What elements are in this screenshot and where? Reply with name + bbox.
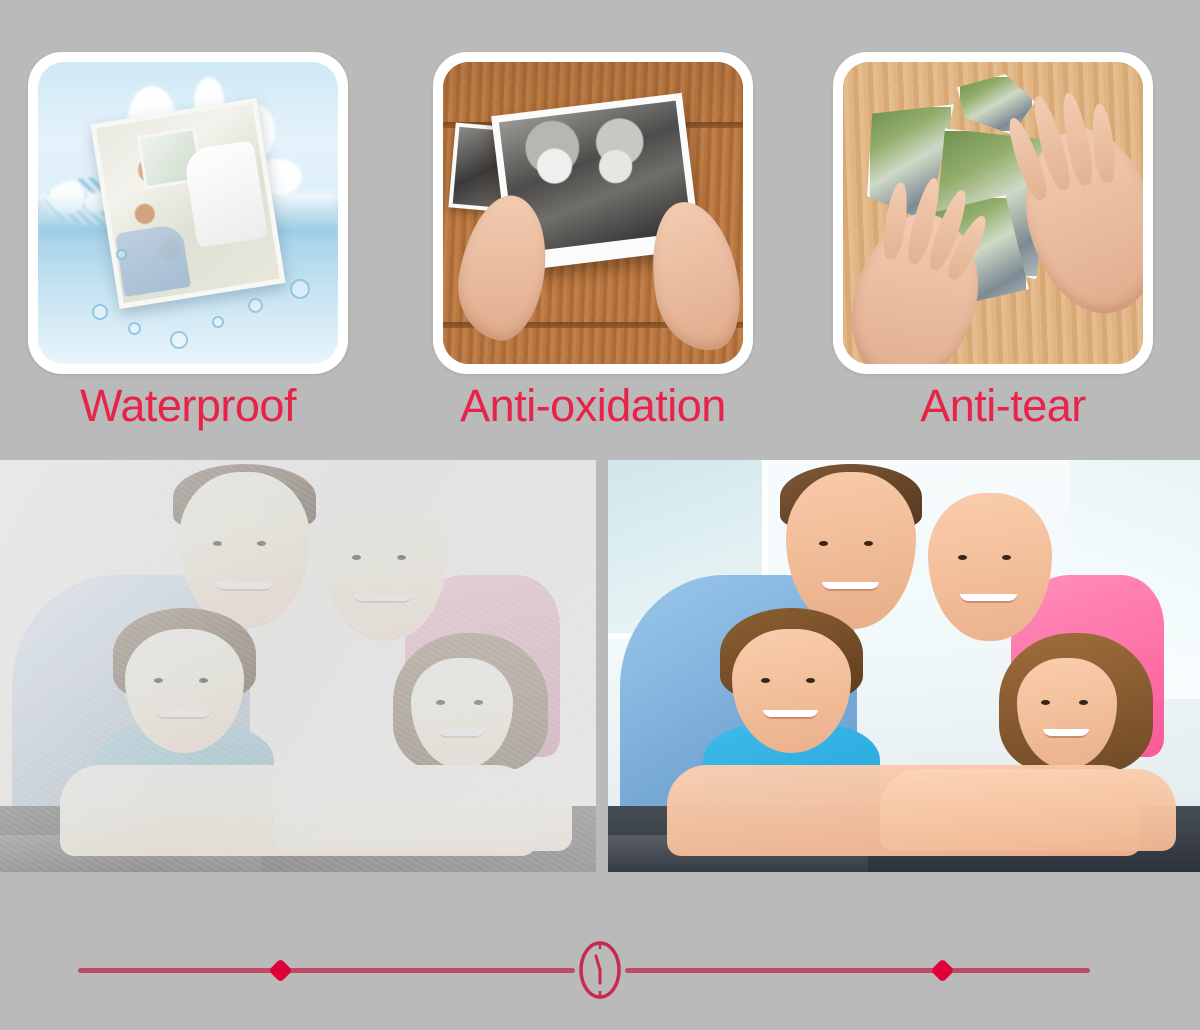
wood-table-background: [443, 62, 743, 364]
feature-row: Waterproof Anti-oxidation Anti-tear: [0, 0, 1200, 450]
comparison-row: [0, 460, 1200, 872]
water-droplet: [170, 331, 188, 349]
eye: [397, 555, 406, 560]
smile: [763, 710, 817, 719]
eye: [257, 541, 266, 546]
family-scene: [0, 460, 596, 872]
smile: [354, 594, 412, 603]
arms-front-right: [274, 769, 572, 851]
arms-front-right: [880, 769, 1176, 851]
eye: [864, 541, 873, 546]
submerged-photo: [90, 98, 285, 309]
divider-rule-left: [78, 968, 575, 973]
smile: [1043, 729, 1089, 738]
submerged-photo-figure: [183, 141, 268, 248]
water-droplet: [128, 322, 141, 335]
water-droplet: [92, 304, 108, 320]
eye: [474, 700, 483, 705]
divider-diamond-dot-right: [930, 958, 954, 982]
family-scene: [608, 460, 1200, 872]
feature-card-anti-tear[interactable]: [833, 52, 1153, 374]
feature-label-anti-oxidation: Anti-oxidation: [400, 380, 786, 432]
eye: [1002, 555, 1011, 560]
eye: [154, 678, 163, 683]
vivid-family-portrait: [608, 460, 1200, 872]
anti-tear-photo: [843, 62, 1143, 364]
feature-label-anti-tear: Anti-tear: [806, 380, 1200, 432]
comparison-image-after[interactable]: [608, 460, 1200, 872]
anti-oxidation-photo: [443, 62, 743, 364]
feature-card-anti-oxidation[interactable]: [433, 52, 753, 374]
right-hand: [1008, 116, 1143, 328]
eye: [958, 555, 967, 560]
eye: [761, 678, 770, 683]
left-hand: [843, 199, 999, 364]
faded-family-portrait: [0, 460, 596, 872]
smile: [960, 594, 1017, 603]
smile: [438, 729, 485, 738]
smile: [156, 710, 211, 719]
desk-background: [843, 62, 1143, 364]
comparison-image-before[interactable]: [0, 460, 596, 872]
submerged-photo-figure: [115, 224, 191, 297]
smile: [822, 582, 879, 591]
water-scene-background: [38, 62, 338, 364]
feature-label-waterproof: Waterproof: [0, 380, 376, 432]
eye: [352, 555, 361, 560]
smile: [216, 582, 274, 591]
clock-icon: [578, 940, 622, 1000]
bottom-divider: [0, 900, 1200, 1030]
water-droplet: [212, 316, 224, 328]
eye: [819, 541, 828, 546]
feature-card-waterproof[interactable]: [28, 52, 348, 374]
divider-rule-right: [625, 968, 1090, 973]
eye: [199, 678, 208, 683]
eye: [1041, 700, 1050, 705]
eye: [1079, 700, 1088, 705]
waterproof-photo: [38, 62, 338, 364]
eye: [213, 541, 222, 546]
water-droplet: [248, 298, 263, 313]
finger: [1090, 104, 1118, 184]
eye: [806, 678, 815, 683]
infographic-page: Waterproof Anti-oxidation Anti-tear: [0, 0, 1200, 1030]
eye: [436, 700, 445, 705]
divider-diamond-dot-left: [268, 958, 292, 982]
water-droplet: [290, 279, 310, 299]
torn-photo-piece: [957, 74, 1035, 134]
